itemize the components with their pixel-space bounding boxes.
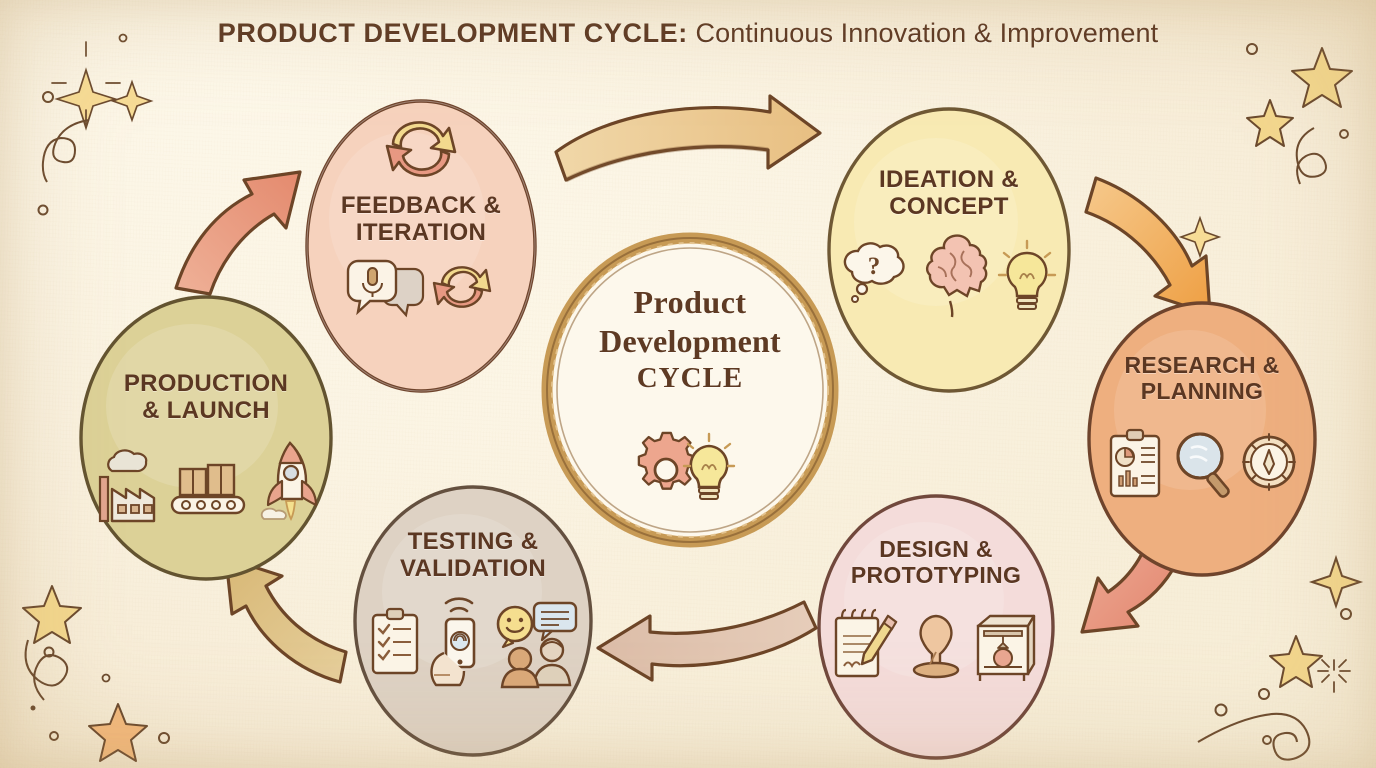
node-icons <box>1105 426 1299 502</box>
speech-bubble-icon <box>534 603 576 640</box>
node-feedback-iteration[interactable]: FEEDBACK & ITERATION <box>302 96 540 396</box>
gear-icon <box>639 433 695 489</box>
hand-phone-icon <box>426 597 490 689</box>
title-strong: PRODUCT DEVELOPMENT CYCLE: <box>218 18 688 48</box>
center-line1: Product <box>540 284 840 321</box>
magnifier-icon <box>1171 426 1235 502</box>
node-design-prototyping[interactable]: DESIGN & PROTOTYPING <box>814 492 1058 762</box>
3d-printer-icon <box>970 604 1042 688</box>
title-light: Continuous Innovation & Improvement <box>688 18 1158 48</box>
node-icons <box>368 597 578 689</box>
conveyor-boxes-icon <box>166 443 250 529</box>
node-icons <box>830 604 1042 688</box>
center-icons <box>540 432 840 506</box>
users-icon <box>502 639 570 687</box>
mannequin-bust-icon <box>906 604 966 688</box>
lightbulb-icon <box>996 239 1058 319</box>
node-research-planning[interactable]: RESEARCH & PLANNING <box>1084 298 1320 580</box>
lightbulb-icon <box>684 434 734 499</box>
svg-text:?: ? <box>868 253 881 280</box>
page-title: PRODUCT DEVELOPMENT CYCLE: Continuous In… <box>0 18 1376 49</box>
thought-bubble-question-icon: ? <box>840 241 912 319</box>
notepad-pencil-icon <box>830 604 902 688</box>
cycle-arrows-icon <box>373 114 469 184</box>
center-title: Product Development CYCLE <box>540 284 840 395</box>
center-hub[interactable]: Product Development CYCLE <box>540 232 840 548</box>
node-icons: ? <box>840 239 1058 319</box>
node-production-launch[interactable]: PRODUCTION & LAUNCH <box>76 292 336 584</box>
node-ideation-concept[interactable]: IDEATION & CONCEPT ? <box>824 104 1074 396</box>
compass-icon <box>1239 426 1299 502</box>
infographic-canvas: PRODUCT DEVELOPMENT CYCLE: Continuous In… <box>0 0 1376 768</box>
smiley-feedback-icon <box>494 597 578 689</box>
refresh-arrows-icon <box>428 257 494 319</box>
node-icons <box>90 439 322 529</box>
clipboard-chart-icon <box>1105 426 1167 502</box>
node-icons <box>348 257 494 319</box>
checklist-clipboard-icon <box>368 603 422 689</box>
factory-icon <box>90 443 166 529</box>
brain-icon <box>916 239 992 319</box>
rocket-icon <box>250 439 322 529</box>
center-line2: Development <box>540 323 840 360</box>
center-line3: CYCLE <box>540 362 840 395</box>
speech-bubble-mic-icon <box>348 257 424 319</box>
